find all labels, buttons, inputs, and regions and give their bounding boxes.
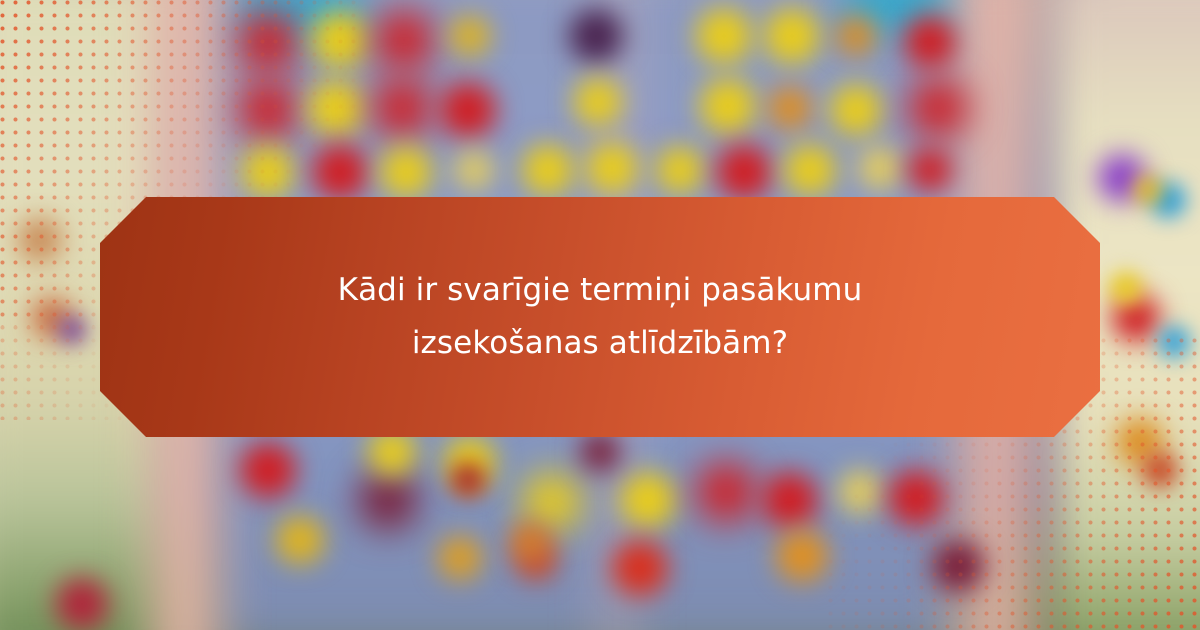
- game-gem: [762, 472, 818, 528]
- game-gem: [56, 578, 108, 630]
- game-gem: [784, 144, 836, 196]
- game-gem: [276, 516, 324, 564]
- game-gem: [450, 16, 490, 56]
- game-gem: [908, 78, 968, 138]
- game-gem: [510, 522, 550, 562]
- game-gem: [776, 530, 828, 582]
- game-gem: [830, 84, 882, 136]
- game-gem: [696, 462, 756, 522]
- game-gem: [836, 16, 876, 56]
- game-gem: [58, 316, 86, 344]
- game-gem: [612, 540, 668, 596]
- game-gem: [238, 80, 298, 140]
- game-gem: [1134, 176, 1162, 204]
- game-gem: [240, 442, 296, 498]
- game-gem: [372, 78, 432, 138]
- game-gem: [569, 9, 623, 63]
- game-gem: [1142, 452, 1178, 488]
- game-gem: [858, 146, 902, 190]
- game-gem: [716, 144, 772, 200]
- game-gem: [380, 146, 432, 198]
- game-gem: [312, 144, 368, 200]
- game-gem: [1110, 272, 1142, 304]
- game-gem: [888, 470, 944, 526]
- game-gem: [440, 82, 496, 138]
- game-gem: [580, 432, 620, 472]
- game-gem: [656, 146, 704, 194]
- game-gem: [574, 78, 622, 126]
- game-gem: [308, 80, 364, 136]
- game-gem: [438, 536, 482, 580]
- headline-text: Kādi ir svarīgie termiņi pasākumu izseko…: [210, 264, 990, 371]
- game-gem: [764, 8, 820, 64]
- game-gem: [242, 146, 294, 198]
- share-card-canvas: Kādi ir svarīgie termiņi pasākumu izseko…: [0, 0, 1200, 630]
- game-gem: [450, 462, 486, 498]
- game-gem: [1158, 326, 1190, 358]
- game-gem: [18, 218, 62, 262]
- game-gem: [700, 78, 756, 134]
- headline-banner: Kādi ir svarīgie termiņi pasākumu izseko…: [100, 197, 1100, 437]
- game-gem: [908, 148, 952, 192]
- game-gem: [358, 470, 418, 530]
- game-gem: [312, 12, 368, 68]
- game-gem: [522, 144, 574, 196]
- game-gem: [586, 142, 638, 194]
- game-gem: [932, 540, 984, 592]
- game-gem: [238, 12, 298, 72]
- game-gem: [620, 472, 676, 528]
- game-gem: [838, 470, 882, 514]
- game-gem: [904, 16, 956, 68]
- game-gem: [696, 8, 752, 64]
- game-gem: [768, 86, 812, 130]
- game-gem: [454, 150, 494, 190]
- game-gem: [374, 10, 434, 70]
